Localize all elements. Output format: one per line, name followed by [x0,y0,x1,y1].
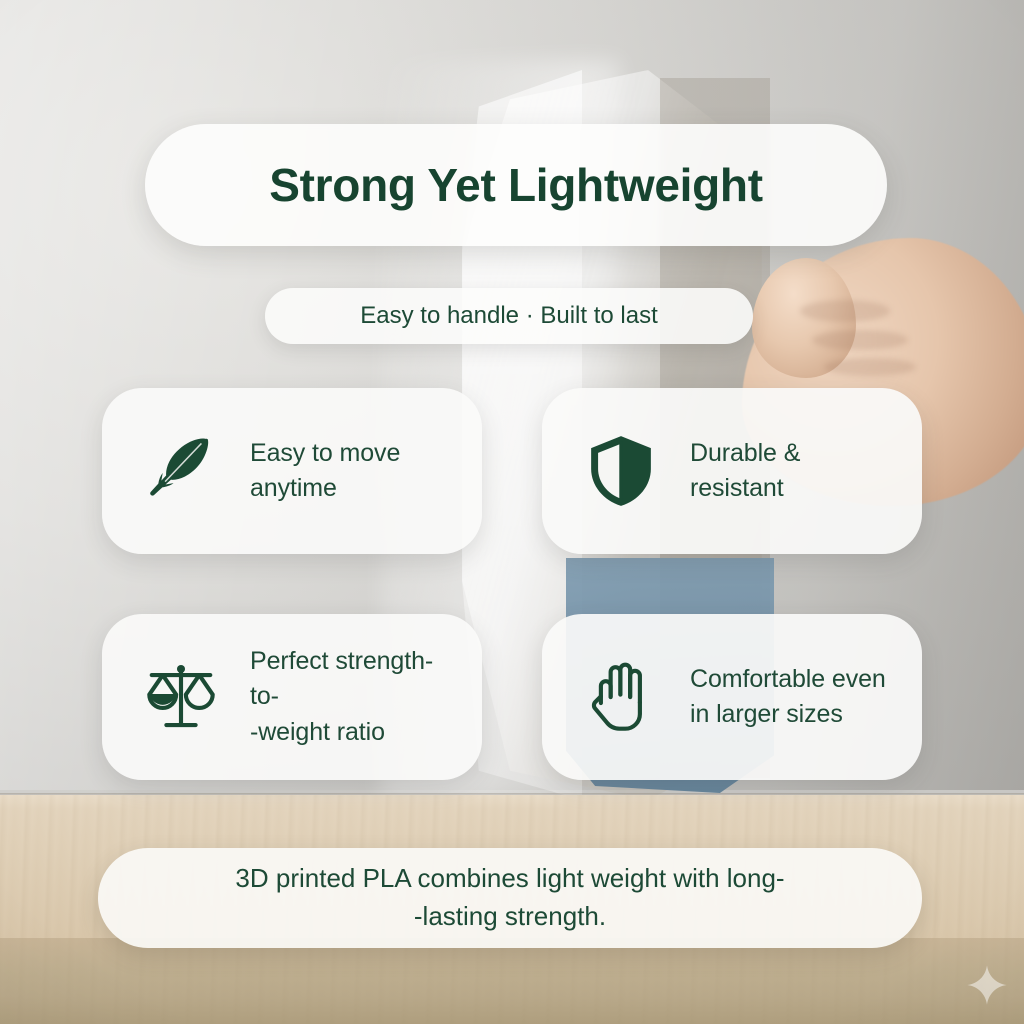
feature-line-2: resistant [690,471,800,507]
open-hand-icon [580,656,662,738]
footer-line-1: 3D printed PLA combines light weight wit… [235,860,784,898]
feature-line-1: Easy to move [250,436,400,472]
footer-pill: 3D printed PLA combines light weight wit… [98,848,922,948]
feature-card-text: Comfortable even in larger sizes [690,662,886,733]
feature-card-text: Durable & resistant [690,436,800,507]
infographic-canvas: Strong Yet Lightweight Easy to handle · … [0,0,1024,1024]
balance-scale-icon [140,656,222,738]
feature-line-2: anytime [250,471,400,507]
feature-line-2: -weight ratio [250,715,456,751]
shield-icon [580,430,662,512]
feature-line-1: Durable & [690,436,800,472]
feature-card-easy-to-move[interactable]: Easy to move anytime [102,388,482,554]
page-title: Strong Yet Lightweight [269,158,762,212]
subtitle-pill: Easy to handle · Built to last [265,288,753,344]
feature-card-text: Easy to move anytime [250,436,400,507]
content-overlay: Strong Yet Lightweight Easy to handle · … [0,0,1024,1024]
feature-card-text: Perfect strength-to- -weight ratio [250,644,456,751]
title-pill: Strong Yet Lightweight [145,124,887,246]
feature-card-durable[interactable]: Durable & resistant [542,388,922,554]
sparkle-icon [966,964,1008,1006]
feature-line-1: Comfortable even [690,662,886,698]
page-subtitle: Easy to handle · Built to last [360,302,658,330]
feature-card-grid: Easy to move anytime Durable & resistant [102,388,922,780]
footer-text: 3D printed PLA combines light weight wit… [235,860,784,935]
feather-icon [140,430,222,512]
feature-line-1: Perfect strength-to- [250,644,456,715]
feature-card-strength-ratio[interactable]: Perfect strength-to- -weight ratio [102,614,482,780]
feature-line-2: in larger sizes [690,697,886,733]
footer-line-2: -lasting strength. [235,898,784,936]
feature-card-comfortable[interactable]: Comfortable even in larger sizes [542,614,922,780]
